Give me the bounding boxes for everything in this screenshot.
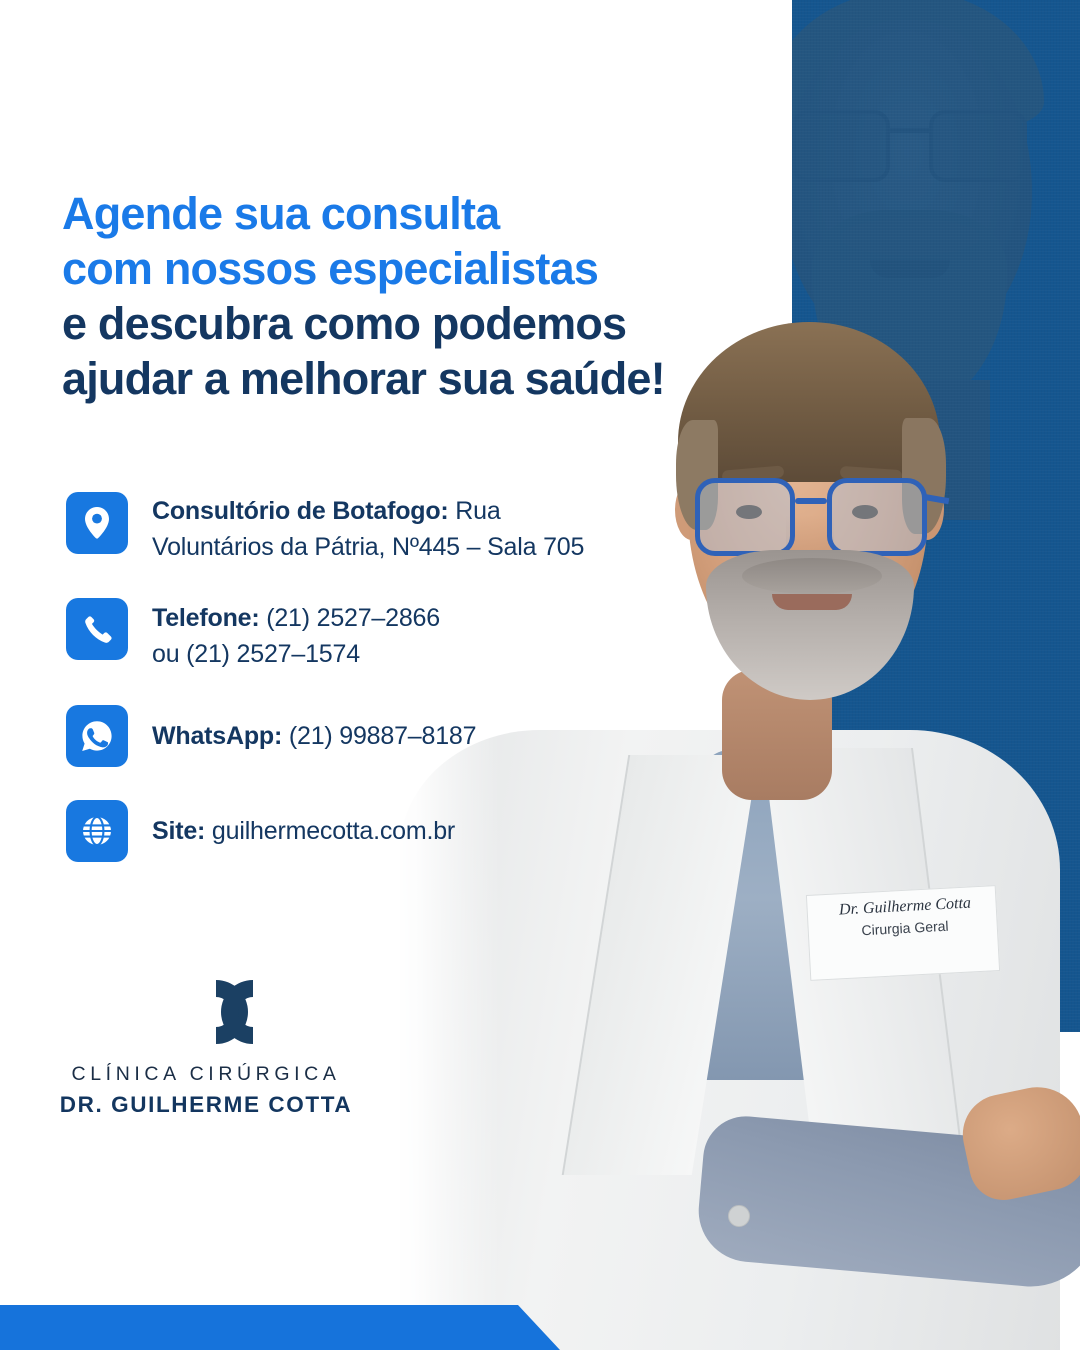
contact-row-whatsapp[interactable]: WhatsApp: (21) 99887–8187 xyxy=(66,705,706,767)
doctor-mustache xyxy=(742,558,882,594)
contact-phone-value-1: (21) 2527–2866 xyxy=(259,604,439,632)
contact-whatsapp-value-1: (21) 99887–8187 xyxy=(282,722,476,750)
gc-monogram-icon xyxy=(147,975,265,1049)
contact-whatsapp-text: WhatsApp: (21) 99887–8187 xyxy=(152,705,476,754)
location-pin-icon xyxy=(66,492,128,554)
contact-site-text: Site: guilhermecotta.com.br xyxy=(152,800,455,849)
doctor-coat-button xyxy=(728,1205,750,1227)
whatsapp-icon xyxy=(66,705,128,767)
headline-line-4: ajudar a melhorar sua saúde! xyxy=(62,351,742,406)
ghost-mustache xyxy=(840,218,980,256)
page-title: Agende sua consulta com nossos especiali… xyxy=(62,186,742,406)
doctor-lens-right xyxy=(827,478,927,556)
doctor-eyeglasses xyxy=(695,478,927,558)
ghost-lens-left xyxy=(792,110,890,182)
contact-row-phone[interactable]: Telefone: (21) 2527–2866 ou (21) 2527–15… xyxy=(66,598,706,672)
ghost-mouth xyxy=(870,260,950,278)
ghost-bridge xyxy=(890,128,929,133)
contact-address-value-1: Rua xyxy=(449,497,501,525)
contact-address-text: Consultório de Botafogo: Rua Voluntários… xyxy=(152,492,584,565)
brand-logo[interactable]: CLÍNICA CIRÚRGICA DR. GUILHERME COTTA xyxy=(56,975,356,1118)
bottom-accent-bar xyxy=(0,1305,560,1350)
phone-icon xyxy=(66,598,128,660)
contact-row-address[interactable]: Consultório de Botafogo: Rua Voluntários… xyxy=(66,492,706,565)
poster-canvas: Dr. Guilherme Cotta Cirurgia Geral Agend… xyxy=(0,0,1080,1350)
globe-icon xyxy=(66,800,128,862)
doctor-mouth xyxy=(772,594,852,610)
contact-phone-label: Telefone: xyxy=(152,604,259,632)
headline-line-2: com nossos especialistas xyxy=(62,241,742,296)
contact-row-site[interactable]: Site: guilhermecotta.com.br xyxy=(66,800,706,862)
contact-address-value-2: Voluntários da Pátria, Nº445 – Sala 705 xyxy=(152,533,584,561)
headline-line-1: Agende sua consulta xyxy=(62,186,742,241)
logo-tagline: CLÍNICA CIRÚRGICA xyxy=(56,1063,356,1086)
contact-phone-text: Telefone: (21) 2527–2866 ou (21) 2527–15… xyxy=(152,598,440,672)
doctor-glasses-bridge xyxy=(795,498,827,504)
logo-doctor-name: DR. GUILHERME COTTA xyxy=(56,1092,356,1118)
doctor-lens-left xyxy=(695,478,795,556)
contact-list: Consultório de Botafogo: Rua Voluntários… xyxy=(66,492,706,862)
contact-site-value-1: guilhermecotta.com.br xyxy=(205,817,455,845)
headline-line-3: e descubra como podemos xyxy=(62,296,742,351)
contact-address-label: Consultório de Botafogo: xyxy=(152,497,449,525)
ghost-glasses-icon xyxy=(792,110,1027,184)
contact-site-label: Site: xyxy=(152,817,205,845)
contact-phone-value-2: ou (21) 2527–1574 xyxy=(152,640,360,668)
contact-whatsapp-label: WhatsApp: xyxy=(152,722,282,750)
ghost-lens-right xyxy=(929,110,1027,182)
